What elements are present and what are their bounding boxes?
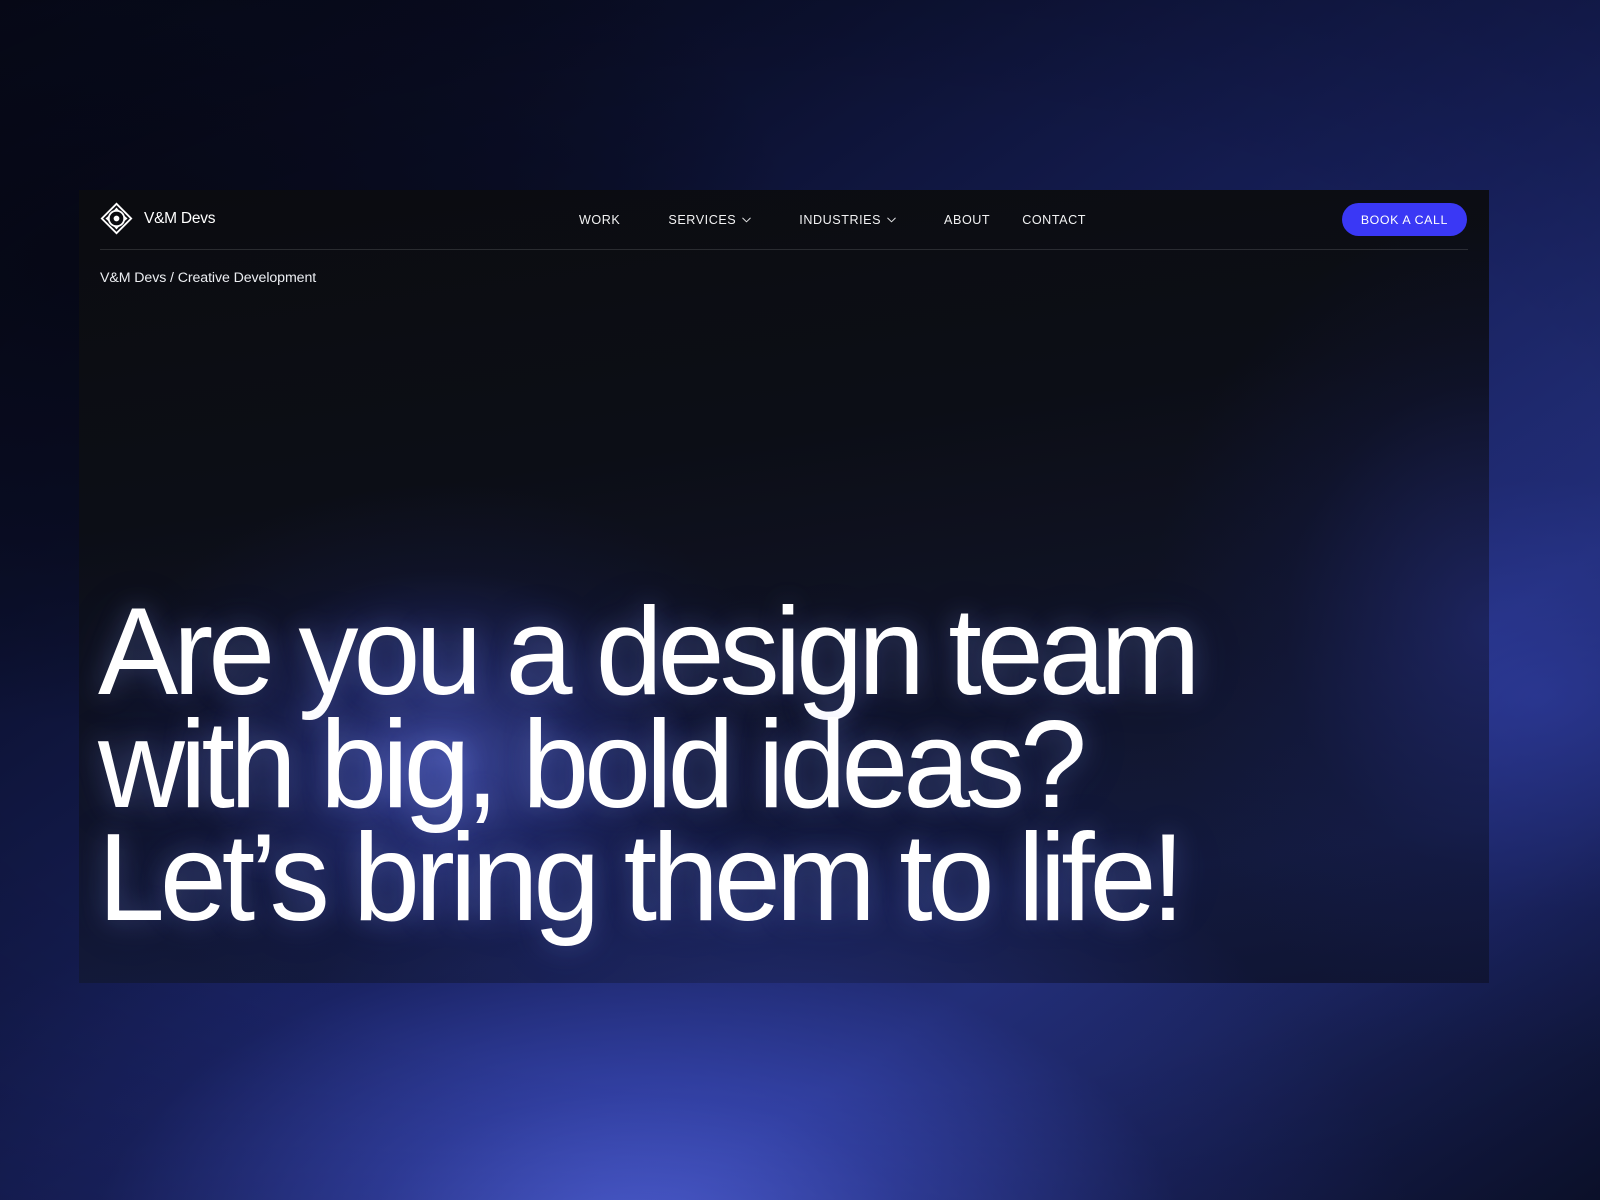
nav-item-work[interactable]: WORK	[579, 210, 620, 230]
hero-heading: Are you a design team with big, bold ide…	[98, 596, 1468, 935]
chevron-down-icon	[742, 217, 751, 223]
brand-name: V&M Devs	[144, 210, 215, 228]
hero-line-3: Let’s bring them to life!	[98, 822, 1427, 935]
site-panel: V&M Devs WORK SERVICES INDUSTRIES	[79, 190, 1489, 983]
diamond-target-icon	[100, 202, 133, 235]
nav-item-contact[interactable]: CONTACT	[1022, 210, 1086, 230]
book-a-call-button[interactable]: BOOK A CALL	[1342, 203, 1467, 236]
breadcrumb: V&M Devs / Creative Development	[100, 270, 316, 286]
nav-item-label: INDUSTRIES	[799, 213, 881, 227]
site-header: V&M Devs WORK SERVICES INDUSTRIES	[79, 190, 1489, 249]
hero-line-1: Are you a design team	[98, 596, 1427, 709]
brand-logo-link[interactable]: V&M Devs	[100, 202, 215, 235]
main-nav: WORK SERVICES INDUSTRIES	[579, 210, 1086, 230]
header-divider	[100, 249, 1468, 250]
nav-item-label: CONTACT	[1022, 213, 1086, 227]
chevron-down-icon	[887, 217, 896, 223]
nav-item-label: ABOUT	[944, 213, 990, 227]
nav-item-about[interactable]: ABOUT	[944, 210, 990, 230]
nav-item-label: WORK	[579, 213, 620, 227]
page-backdrop: V&M Devs WORK SERVICES INDUSTRIES	[0, 0, 1600, 1200]
hero-line-2: with big, bold ideas?	[98, 709, 1427, 822]
nav-item-label: SERVICES	[668, 213, 736, 227]
nav-item-industries[interactable]: INDUSTRIES	[799, 210, 896, 230]
nav-item-services[interactable]: SERVICES	[668, 210, 751, 230]
